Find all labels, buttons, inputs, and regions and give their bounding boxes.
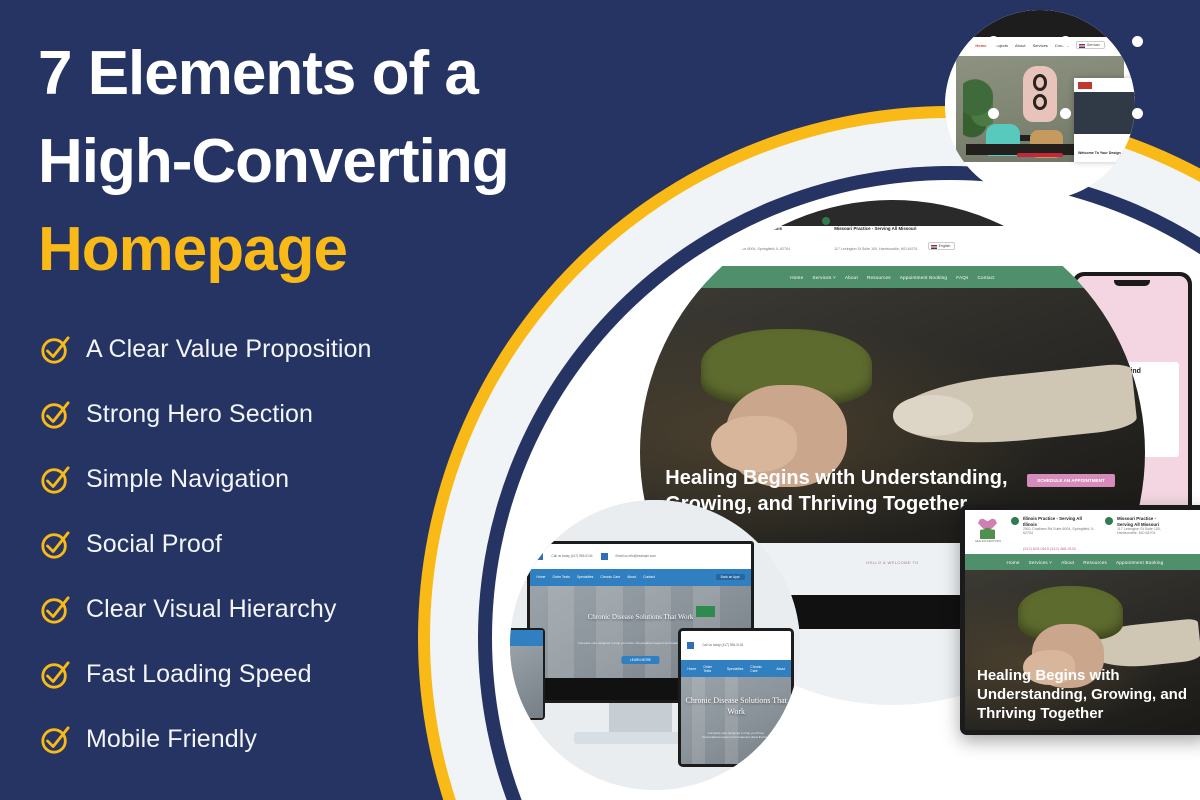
nav-contact[interactable]: Contact	[977, 275, 994, 280]
poster-canvas: Heal the Mind All Treatment Book Consult…	[0, 0, 1200, 800]
logo-label: HEALING EMOTIONS	[975, 540, 1001, 543]
list-item: Clear Visual Hierarchy	[40, 585, 600, 634]
nav-order-tests[interactable]: Order Tests	[703, 665, 720, 673]
practice-il-address: 2501 Chatham Rd Suite 6004, Springfield,…	[1023, 527, 1095, 536]
list-item-label: Mobile Friendly	[86, 725, 257, 754]
photo-red-accent	[1017, 153, 1064, 156]
elements-checklist: A Clear Value Proposition Strong Hero Se…	[40, 325, 600, 764]
list-item-label: Fast Loading Speed	[86, 660, 312, 689]
tablet-mockup-healing-emotions: HEALING EMOTIONS Illinois Practice - Ser…	[960, 505, 1200, 735]
practice-il-name: Illinois Practice - Serving All Illinois	[1023, 516, 1095, 527]
practice-il-phones: (312) 625-0615 (312) 466-9102	[1023, 547, 1076, 551]
nav-faqs[interactable]: FAQs	[956, 275, 968, 280]
headline-line-1: 7 Elements of a	[38, 39, 478, 108]
hero-cta-button[interactable]: SCHEDULE AN APPOINTMENT	[1027, 474, 1115, 487]
headline-line-3-accent: Homepage	[38, 215, 347, 284]
nav-home[interactable]: Home	[790, 275, 803, 280]
headline-line-2: High-Converting	[38, 127, 509, 196]
check-circle-icon	[40, 595, 70, 625]
location-pin-icon	[822, 217, 830, 225]
hero-photo-hand	[711, 416, 797, 472]
check-circle-icon	[40, 660, 70, 690]
practice-mo-name: Missouri Practice - Serving All Missouri	[834, 226, 916, 231]
leaves-icon	[980, 527, 995, 539]
nav-appointment-booking[interactable]: Appointment Booking	[1116, 560, 1163, 565]
practice-mo-address: 117 Lexington St Suite 100, Harrisonvill…	[834, 247, 917, 251]
site-contact-bar: HEALING EMOTIONS Illinois Practice - Ser…	[965, 510, 1200, 554]
check-circle-icon	[40, 530, 70, 560]
practice-illinois: Illinois Practice - Serving All Illinois…	[1011, 516, 1095, 556]
check-circle-icon	[40, 335, 70, 365]
list-item: Fast Loading Speed	[40, 650, 600, 699]
site-navigation: Home Services ˅ About Resources Appointm…	[640, 266, 1145, 288]
tablet-screen: HEALING EMOTIONS Illinois Practice - Ser…	[965, 510, 1200, 730]
site-hero: Healing Begins with Understanding, Growi…	[965, 570, 1200, 730]
photo-cabinet-3	[645, 586, 671, 678]
decorative-dot-grid	[980, 28, 1200, 118]
practice-il-name: Illinois Practice - Serving All Illinois	[708, 226, 782, 231]
list-item: Strong Hero Section	[40, 390, 600, 439]
nav-resources[interactable]: Resources	[867, 275, 891, 280]
list-item-label: Social Proof	[86, 530, 222, 559]
site-contact-bar: Call us today (417) 555-0134	[681, 631, 791, 660]
site-contact-bar: Illinois Practice - Serving All Illinois…	[640, 226, 1145, 266]
list-item: Simple Navigation	[40, 455, 600, 504]
list-item-label: A Clear Value Proposition	[86, 335, 372, 364]
nav-services[interactable]: Services ˅	[1029, 560, 1053, 565]
nav-contact[interactable]: Contact	[643, 575, 655, 579]
nav-home[interactable]: Home	[687, 667, 696, 671]
nav-appointment-booking[interactable]: Appointment Booking	[900, 275, 947, 280]
list-item: A Clear Value Proposition	[40, 325, 600, 374]
nav-about[interactable]: About	[1061, 560, 1074, 565]
practice-mo-address: 117 Lexington St Suite 100, Harrisonvill…	[1117, 527, 1161, 536]
logo-icon	[687, 642, 694, 649]
list-item: Mobile Friendly	[40, 715, 600, 764]
location-pin-icon	[1011, 517, 1019, 525]
check-circle-icon	[40, 725, 70, 755]
location-pin-icon	[1105, 517, 1113, 525]
hero-headline: Healing Begins with Understanding, Growi…	[977, 666, 1198, 724]
practice-il-address: 2501 Chatham Rd Suite 6004, Springfield,…	[708, 247, 790, 251]
tablet-mockup: Call us today (417) 555-0134 Home Order …	[678, 628, 794, 767]
hero-headline: Chronic Disease Solutions That Work	[681, 696, 791, 718]
panel-text: Welcome To Your Design	[1078, 151, 1135, 156]
site-navigation: Home Services ˅ About Resources Appointm…	[965, 554, 1200, 570]
page-title: 7 Elements of a High-Converting Homepage	[38, 30, 638, 294]
practice-mo-name: Missouri Practice - Serving All Missouri	[1117, 516, 1161, 527]
nav-home[interactable]: Home	[1007, 560, 1020, 565]
contact-phone: Call us today (417) 555-0134	[702, 643, 743, 647]
list-item: Social Proof	[40, 520, 600, 569]
nav-about[interactable]: About	[776, 667, 785, 671]
language-selector[interactable]: English	[928, 242, 956, 250]
photo-cabinet-1	[692, 677, 705, 764]
list-item-label: Clear Visual Hierarchy	[86, 595, 336, 624]
healing-emotions-logo: HEALING EMOTIONS	[975, 516, 1001, 542]
tablet-screen: Call us today (417) 555-0134 Home Order …	[681, 631, 791, 764]
check-circle-icon	[40, 465, 70, 495]
check-circle-icon	[40, 400, 70, 430]
list-item-label: Simple Navigation	[86, 465, 289, 494]
nav-specialties[interactable]: Specialties	[727, 667, 743, 671]
nav-resources[interactable]: Resources	[1083, 560, 1107, 565]
site-navigation: Home Order Tests Specialties Chronic Car…	[681, 660, 791, 677]
nav-about[interactable]: About	[845, 275, 858, 280]
hero-photo-sleeve	[893, 395, 974, 436]
list-item-label: Strong Hero Section	[86, 400, 313, 429]
location-pin-icon	[696, 217, 704, 225]
nav-services[interactable]: Services ˅	[812, 275, 836, 280]
nav-chronic-care[interactable]: Chronic Care	[750, 665, 769, 673]
nav-cta-button[interactable]: Book an Appt	[716, 574, 745, 580]
left-content-panel: 7 Elements of a High-Converting Homepage…	[0, 0, 640, 800]
site-hero: Chronic Disease Solutions That Work Comp…	[681, 677, 791, 764]
hero-subtext: Complete care designed to help you thriv…	[699, 731, 774, 739]
practice-missouri: Missouri Practice - Serving All Missouri…	[1105, 516, 1161, 536]
photo-cabinet-2	[725, 677, 738, 764]
